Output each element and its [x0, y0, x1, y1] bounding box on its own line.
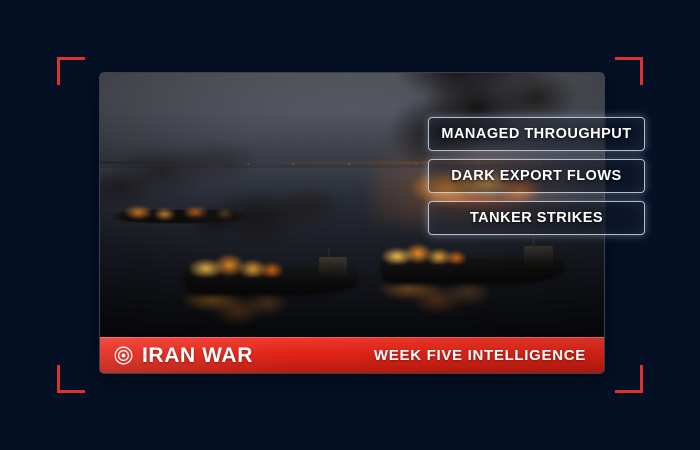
footer-bar: IRAN WAR WEEK FIVE INTELLIGENCE	[100, 337, 604, 373]
overlay-button-dark-export-flows[interactable]: DARK EXPORT FLOWS	[428, 159, 645, 193]
tanker-superstructure-right	[524, 246, 553, 270]
corner-bracket-bottom-right	[615, 365, 643, 393]
fire-reflection-right	[375, 283, 531, 325]
overlay-button-stack: MANAGED THROUGHPUT DARK EXPORT FLOWS TAN…	[428, 117, 645, 235]
corner-bracket-bottom-left	[57, 365, 85, 393]
fire-reflection-left	[179, 294, 326, 336]
footer-subtitle: WEEK FIVE INTELLIGENCE	[374, 348, 586, 363]
overlay-button-managed-throughput[interactable]: MANAGED THROUGHPUT	[428, 117, 645, 151]
burning-tanker-left	[186, 247, 357, 300]
brand-lockup: IRAN WAR	[114, 345, 253, 366]
tanker-deck-fire-right	[382, 239, 476, 264]
tanker-superstructure-left	[319, 257, 346, 281]
target-crosshair-icon	[114, 346, 133, 365]
brand-title: IRAN WAR	[142, 345, 253, 366]
corner-bracket-top-left	[57, 57, 85, 85]
tanker-deck-fire-left	[189, 249, 295, 276]
burning-tanker-right	[382, 237, 563, 290]
corner-bracket-top-right	[615, 57, 643, 85]
screen-root: IRAN WAR WEEK FIVE INTELLIGENCE MANAGED …	[0, 0, 700, 450]
overlay-button-tanker-strikes[interactable]: TANKER STRIKES	[428, 201, 645, 235]
